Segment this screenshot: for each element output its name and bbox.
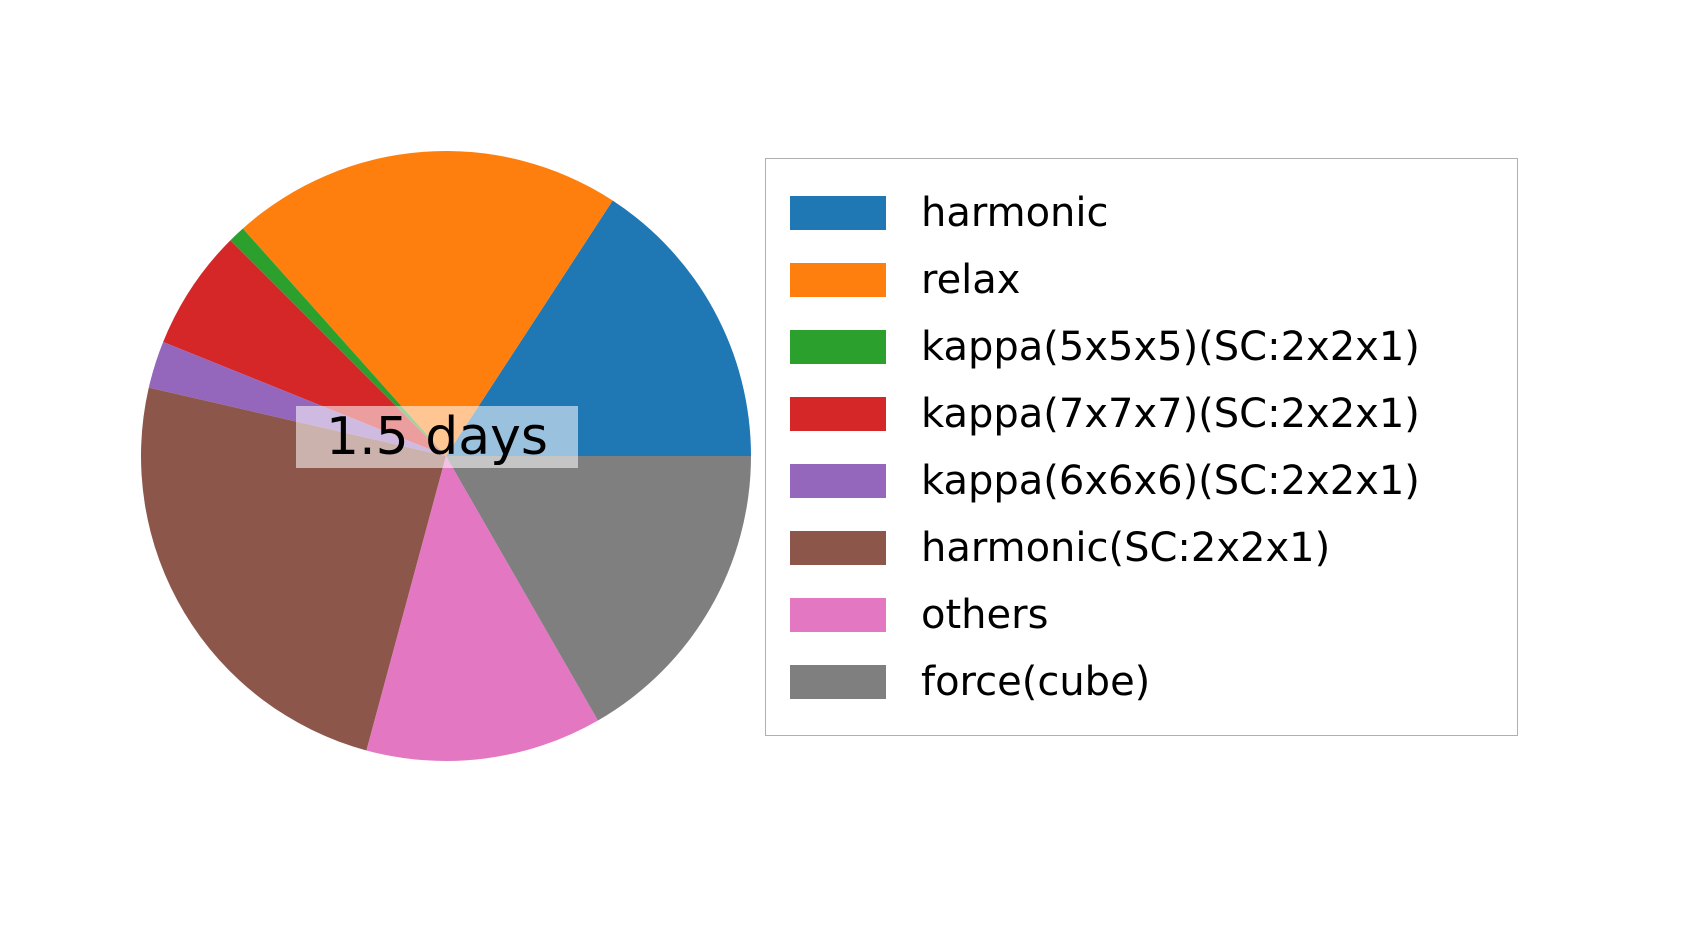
pie-chart-figure: 1.5 days harmonic relax kappa(5x5x5)(SC:…: [0, 0, 1696, 951]
legend-swatch-harmonic-sc: [790, 531, 886, 565]
legend-label-harmonic-sc: harmonic(SC:2x2x1): [921, 528, 1330, 568]
pie-wedge-group: [141, 151, 751, 761]
legend-item-relax[interactable]: relax: [790, 246, 1495, 313]
legend-swatch-kappa-5x5x5: [790, 330, 886, 364]
legend-swatch-force-cube: [790, 665, 886, 699]
legend-swatch-kappa-6x6x6: [790, 464, 886, 498]
legend-label-kappa-6x6x6: kappa(6x6x6)(SC:2x2x1): [921, 461, 1420, 501]
legend-swatch-relax: [790, 263, 886, 297]
legend-item-force-cube[interactable]: force(cube): [790, 648, 1495, 715]
legend-item-kappa-6x6x6[interactable]: kappa(6x6x6)(SC:2x2x1): [790, 447, 1495, 514]
legend-box: harmonic relax kappa(5x5x5)(SC:2x2x1) ka…: [765, 158, 1518, 736]
legend-swatch-others: [790, 598, 886, 632]
legend-swatch-kappa-7x7x7: [790, 397, 886, 431]
legend-label-kappa-5x5x5: kappa(5x5x5)(SC:2x2x1): [921, 327, 1420, 367]
legend-label-force-cube: force(cube): [921, 662, 1150, 702]
legend-item-kappa-5x5x5[interactable]: kappa(5x5x5)(SC:2x2x1): [790, 313, 1495, 380]
legend-label-relax: relax: [921, 260, 1020, 300]
legend-label-harmonic: harmonic: [921, 193, 1109, 233]
legend-label-kappa-7x7x7: kappa(7x7x7)(SC:2x2x1): [921, 394, 1420, 434]
legend-item-others[interactable]: others: [790, 581, 1495, 648]
legend-item-harmonic[interactable]: harmonic: [790, 179, 1495, 246]
legend-swatch-harmonic: [790, 196, 886, 230]
legend-item-harmonic-sc[interactable]: harmonic(SC:2x2x1): [790, 514, 1495, 581]
legend-item-kappa-7x7x7[interactable]: kappa(7x7x7)(SC:2x2x1): [790, 380, 1495, 447]
legend-label-others: others: [921, 595, 1048, 635]
